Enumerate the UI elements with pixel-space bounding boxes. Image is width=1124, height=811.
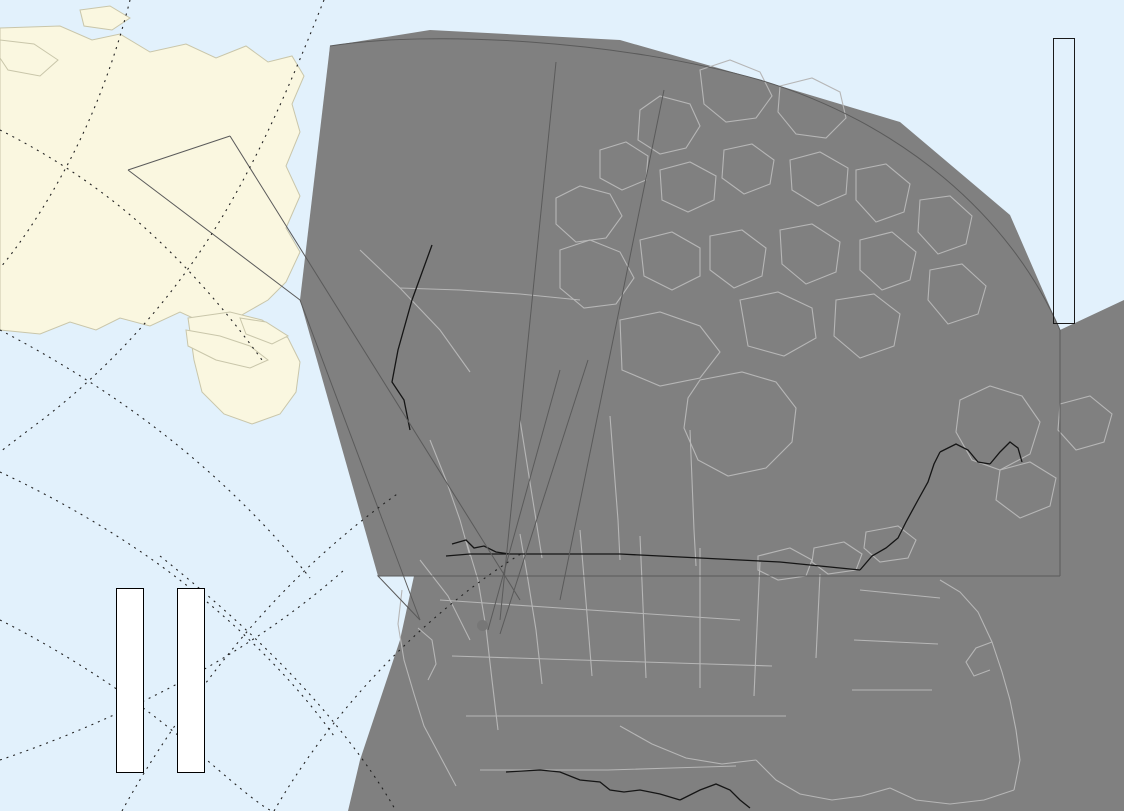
- radar-map-screenshot: [0, 0, 1124, 811]
- frequency-bar-cve: [177, 588, 205, 773]
- radar-site-marker: [477, 620, 488, 631]
- frequency-bar-cvw: [116, 588, 144, 773]
- velocity-colorbar: [1053, 38, 1075, 324]
- colorbar-tick-labels: [975, 0, 1050, 811]
- timestamp-title: [7, 1, 26, 97]
- velocity-data-layer: [0, 0, 1124, 811]
